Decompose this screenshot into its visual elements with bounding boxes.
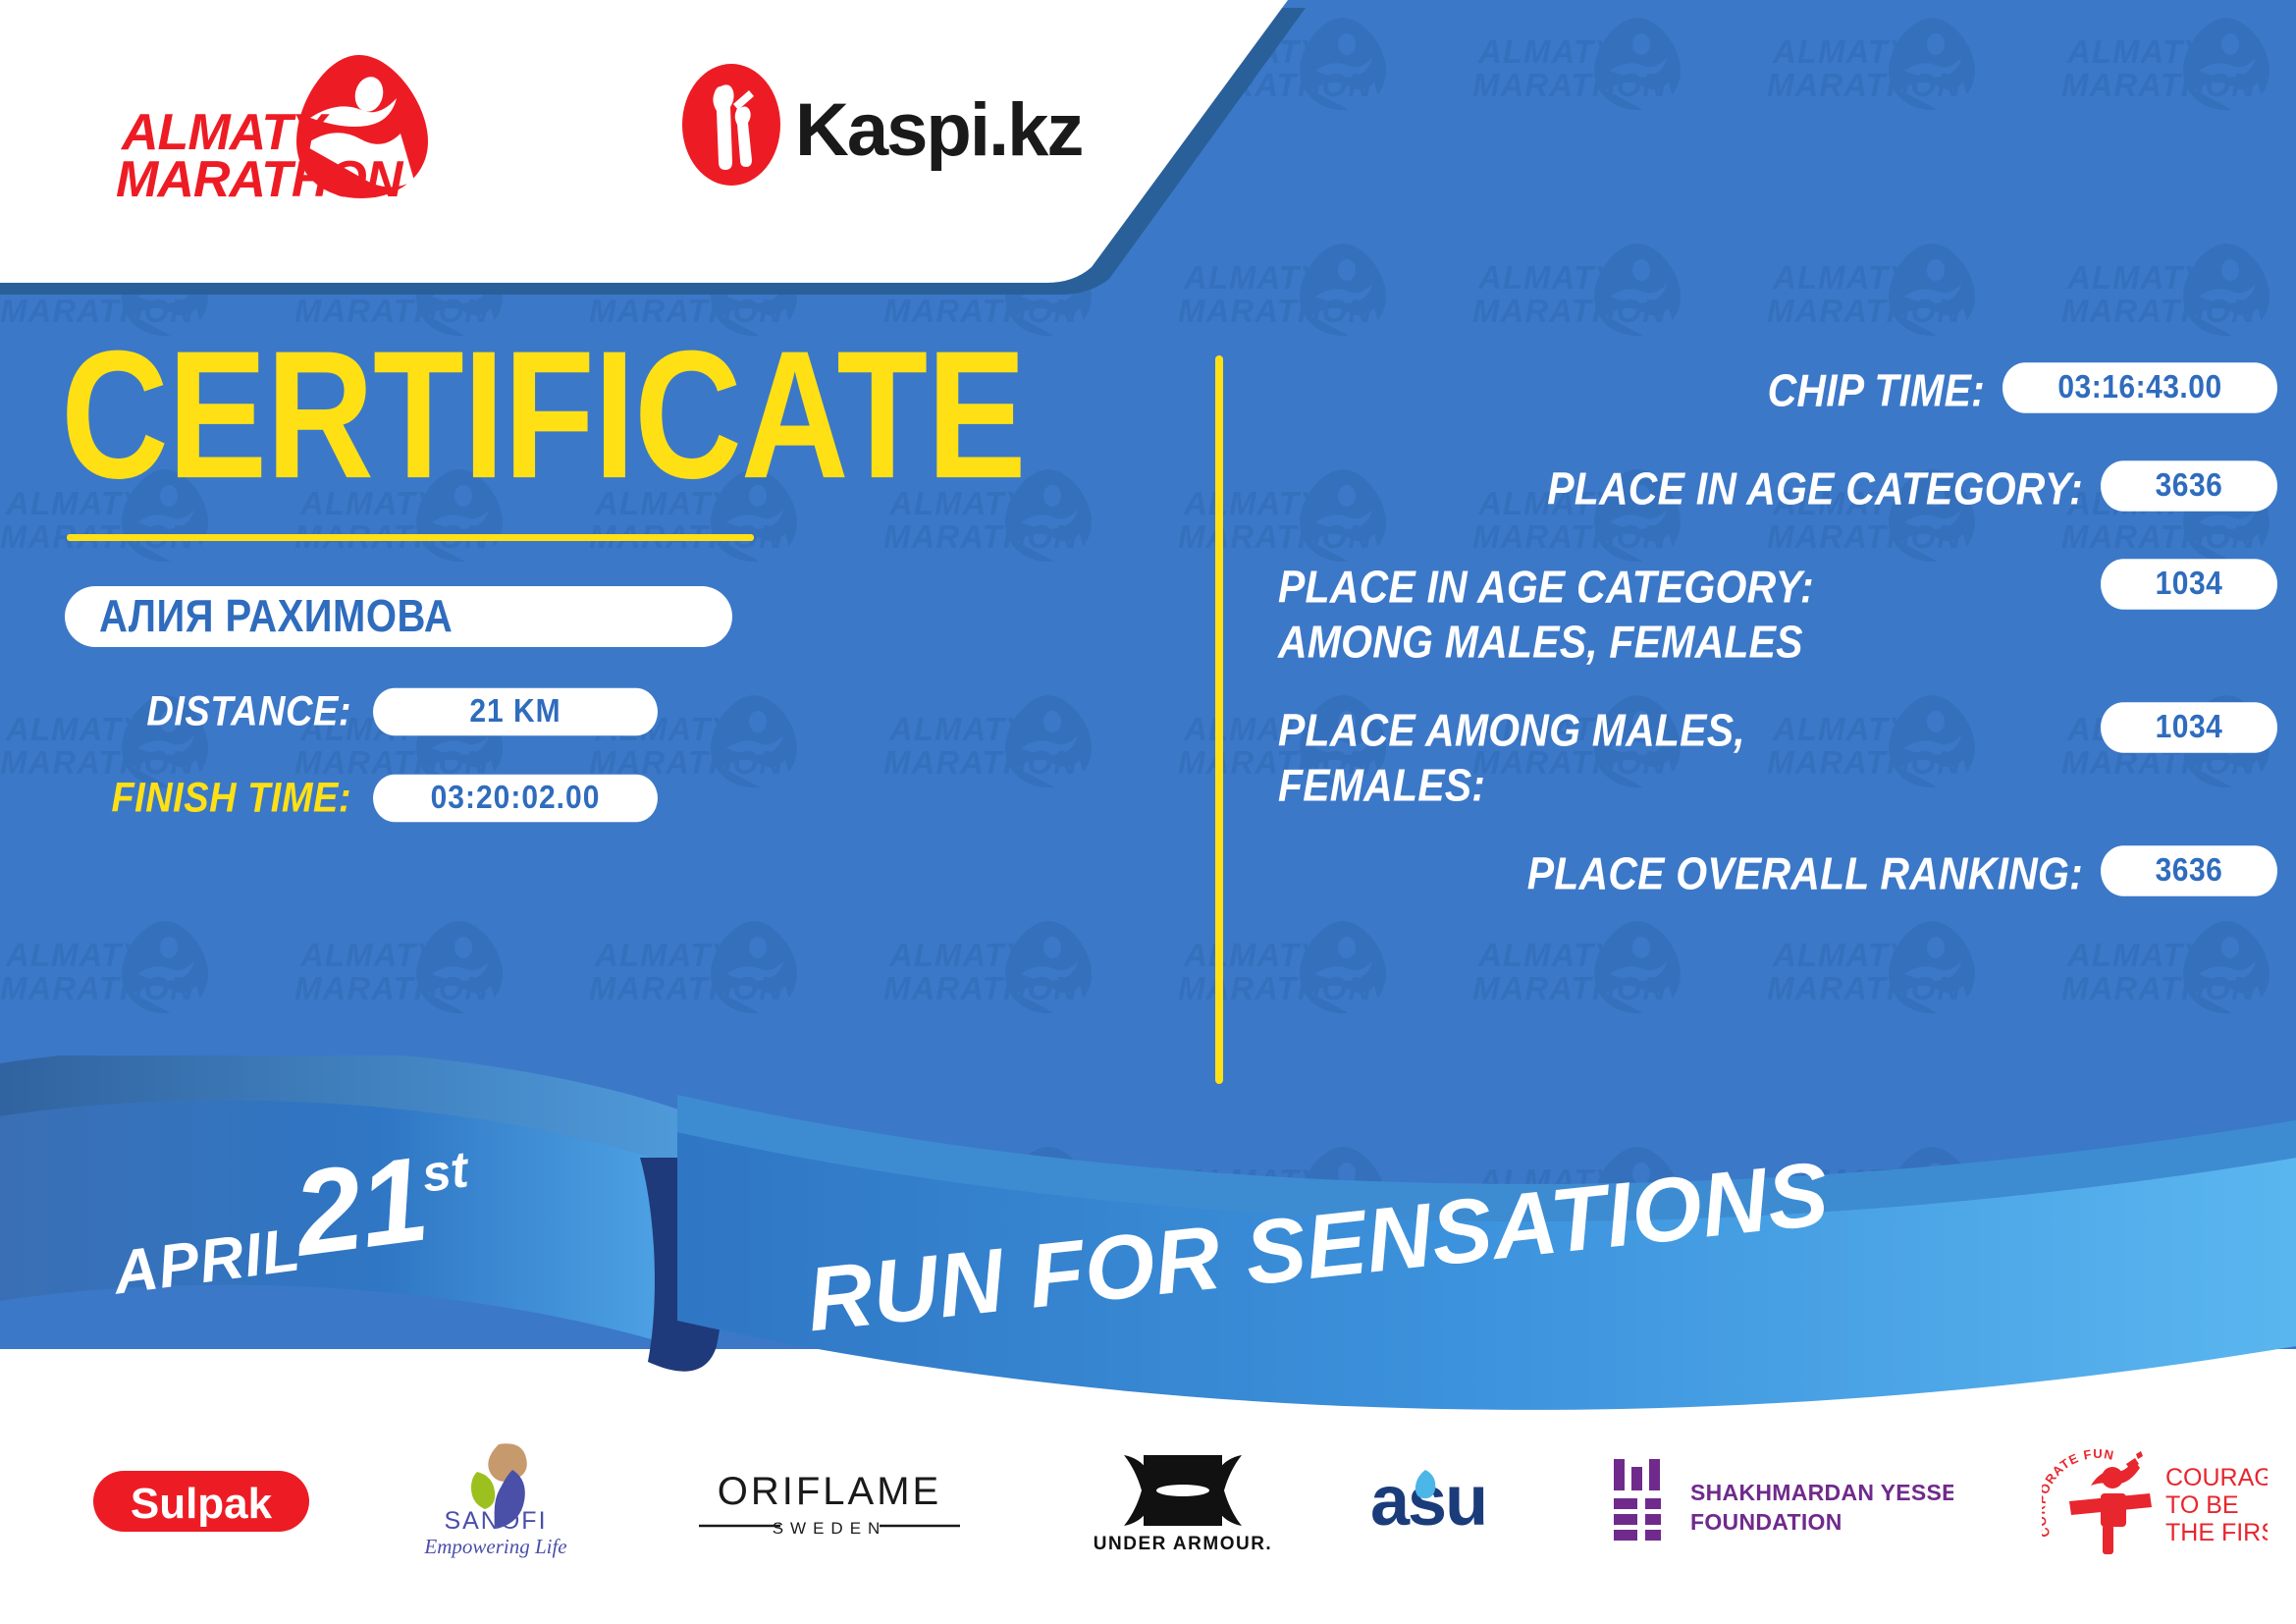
stat-row-chip-time: CHIP TIME: 03:16:43.00 (1256, 363, 2277, 416)
almaty-line2: MARATHON (116, 151, 404, 204)
oriflame-tagline: SWEDEN (773, 1519, 887, 1538)
sponsor-bar: Sulpak SANOFI Empowering Life ORIFLAME S… (0, 1379, 2296, 1624)
event-day-ordinal: st (419, 1141, 471, 1204)
sponsor-logo-oriflame: ORIFLAME SWEDEN (687, 1457, 972, 1545)
place-among-gender-value: 1034 (2101, 702, 2277, 753)
courage-line2: TO BE (2165, 1491, 2239, 1519)
oriflame-label: ORIFLAME (718, 1470, 941, 1513)
left-column: CERTIFICATE АЛИЯ РАХИМОВА DISTANCE: 21 K… (0, 324, 1178, 820)
finish-time-value: 03:20:02.00 (373, 775, 658, 822)
finish-time-label: FINISH TIME: (0, 775, 373, 822)
event-day: 21 (287, 1131, 434, 1280)
sponsor-logo-shakhmardan-yessenov: SHAKHMARDAN YESSENOV FOUNDATION (1610, 1457, 1953, 1545)
place-age-category-value: 3636 (2101, 460, 2277, 512)
place-age-category-label: PLACE IN AGE CATEGORY: (1256, 461, 2101, 516)
sanofi-tagline: Empowering Life (423, 1535, 566, 1558)
sponsor-logo-sulpak: Sulpak (93, 1467, 309, 1536)
place-age-category-gender-label: PLACE IN AGE CATEGORY: AMONG MALES, FEMA… (1256, 560, 2101, 670)
page-title: CERTIFICATE (61, 324, 1178, 506)
place-age-category-gender-value: 1034 (2101, 559, 2277, 610)
shakhmardan-label: SHAKHMARDAN YESSENOV (1690, 1480, 1953, 1505)
certificate-page: ALMATY MARATHON ALMATY MARATHON (0, 0, 2296, 1624)
place-among-gender-label: PLACE AMONG MALES, FEMALES: (1256, 703, 2101, 813)
sanofi-label: SANOFI (444, 1507, 547, 1535)
chip-time-value: 03:16:43.00 (2002, 362, 2277, 413)
title-underline (67, 534, 754, 541)
shakhmardan-tagline: FOUNDATION (1690, 1509, 1842, 1535)
almaty-marathon-logo: ALMATY MARATHON (116, 47, 450, 204)
stat-row-place-among-gender: PLACE AMONG MALES, FEMALES: 1034 (1256, 703, 2277, 801)
sponsor-logo-courage-fund: CORPORATE FUND COURAGE TO BE THE FIRST! (2042, 1442, 2268, 1560)
place-overall-label: PLACE OVERALL RANKING: (1256, 846, 2101, 901)
kaspi-logo: Kaspi.kz (677, 61, 1090, 189)
chip-time-label: CHIP TIME: (1256, 363, 2002, 418)
distance-label: DISTANCE: (0, 688, 373, 735)
stat-row-place-age-category-gender: PLACE IN AGE CATEGORY: AMONG MALES, FEMA… (1256, 560, 2277, 658)
participant-name: АЛИЯ РАХИМОВА (99, 591, 453, 642)
sulpak-label: Sulpak (131, 1480, 273, 1528)
courage-line3: THE FIRST! (2165, 1519, 2268, 1546)
results-column: CHIP TIME: 03:16:43.00 PLACE IN AGE CATE… (1256, 363, 2277, 945)
shakhmardan-mark-icon (1614, 1459, 1661, 1541)
sponsor-logo-under-armour: UNDER ARMOUR. (1085, 1447, 1281, 1555)
sponsor-logo-sanofi: SANOFI Empowering Life (402, 1442, 589, 1560)
under-armour-label: UNDER ARMOUR. (1094, 1534, 1272, 1554)
kaspi-label: Kaspi.kz (795, 88, 1082, 172)
stat-row-place-age-category: PLACE IN AGE CATEGORY: 3636 (1256, 461, 2277, 514)
participant-name-field: АЛИЯ РАХИМОВА (65, 586, 732, 647)
distance-value: 21 KM (373, 688, 658, 735)
under-armour-mark-icon (1124, 1455, 1242, 1526)
distance-row: DISTANCE: 21 KM (0, 690, 1178, 733)
stat-row-place-overall: PLACE OVERALL RANKING: 3636 (1256, 846, 2277, 899)
sponsor-logo-asu: asu (1364, 1462, 1526, 1541)
finish-time-row: FINISH TIME: 03:20:02.00 (0, 777, 1178, 820)
column-divider (1215, 355, 1223, 1084)
kaspi-people-icon (682, 64, 780, 186)
place-overall-value: 3636 (2101, 845, 2277, 896)
courage-line1: COURAGE (2165, 1464, 2268, 1491)
courage-runner-icon (2069, 1451, 2152, 1554)
